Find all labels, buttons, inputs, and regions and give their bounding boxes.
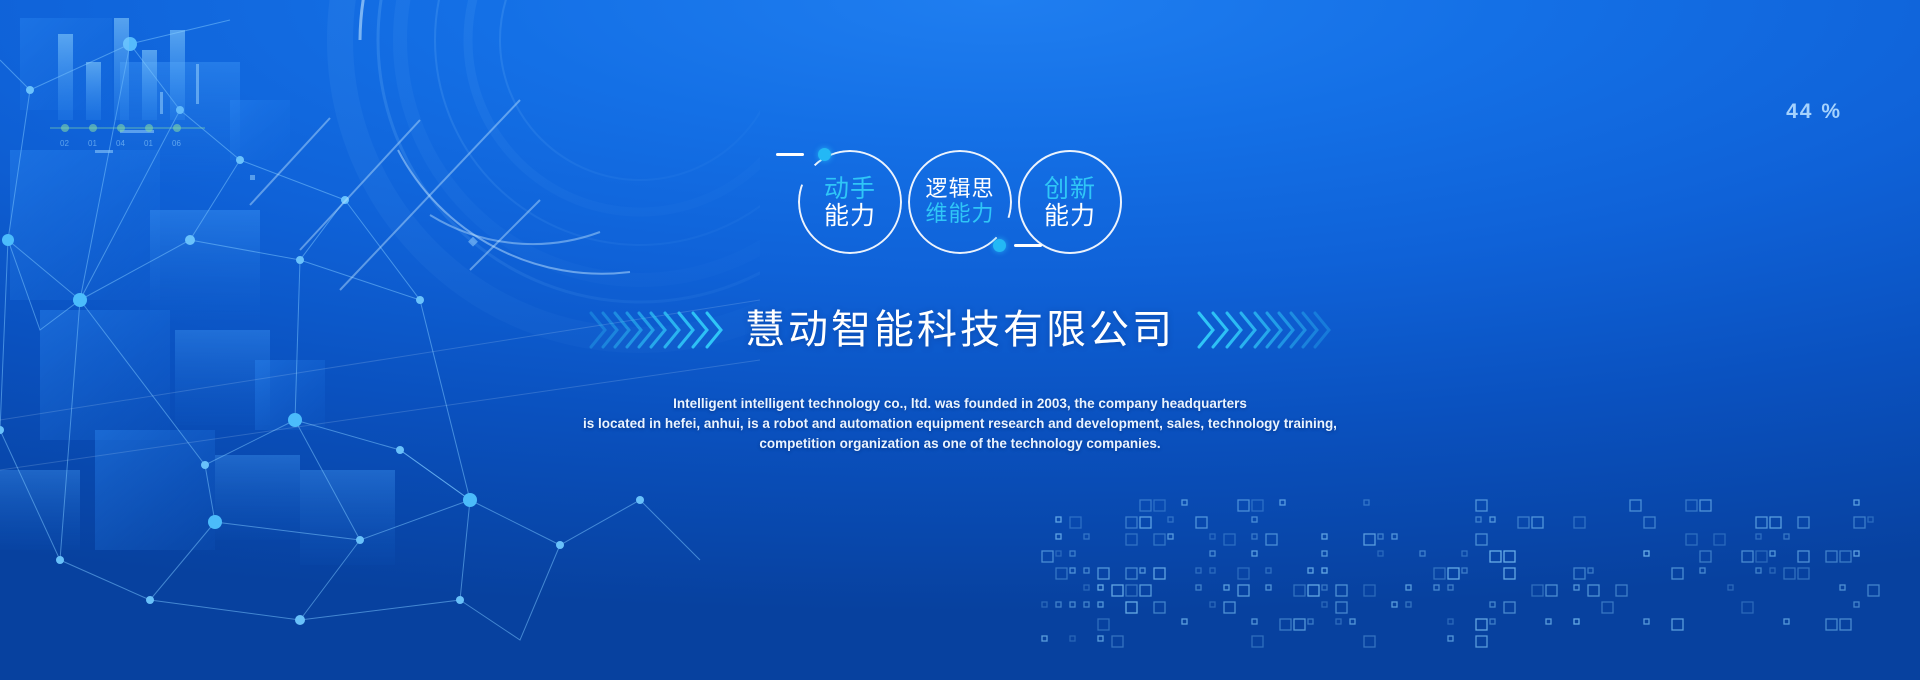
ability-line-2: 维能力 — [925, 202, 994, 227]
hero-banner: 02 01 04 01 06 44 % 动手 — [0, 0, 1920, 680]
banner-content: 动手 能力 逻辑思 维能力 创新 能力 — [0, 0, 1920, 467]
accent-dash-icon — [776, 153, 804, 156]
ability-line-1: 动手 — [824, 175, 876, 202]
ability-line-1: 创新 — [1044, 175, 1096, 202]
company-description: Intelligent intelligent technology co., … — [580, 394, 1340, 454]
ability-circles: 动手 能力 逻辑思 维能力 创新 能力 — [798, 146, 1122, 258]
ability-circle-innovation[interactable]: 创新 能力 — [1018, 150, 1122, 254]
ability-circle-logical-thinking[interactable]: 逻辑思 维能力 — [908, 150, 1012, 254]
page-title: 慧动智能科技有限公司 — [745, 307, 1175, 353]
dot-matrix-decoration — [1020, 490, 1920, 680]
accent-dash-icon — [1014, 244, 1042, 247]
ability-circle-hands-on[interactable]: 动手 能力 — [798, 150, 902, 254]
description-line-2: is located in hefei, anhui, is a robot a… — [580, 414, 1340, 434]
chevron-decoration-right — [1185, 307, 1335, 353]
accent-dot-icon — [993, 239, 1006, 252]
company-title-row: 慧动智能科技有限公司 — [585, 280, 1335, 380]
ability-line-2: 能力 — [1044, 202, 1096, 229]
description-line-1: Intelligent intelligent technology co., … — [580, 394, 1340, 414]
chevron-decoration-left — [585, 307, 735, 353]
ability-line-1: 逻辑思 — [925, 177, 994, 202]
accent-dot-icon — [818, 148, 831, 161]
ability-line-2: 能力 — [824, 202, 876, 229]
description-line-3: competition organization as one of the t… — [580, 434, 1340, 454]
